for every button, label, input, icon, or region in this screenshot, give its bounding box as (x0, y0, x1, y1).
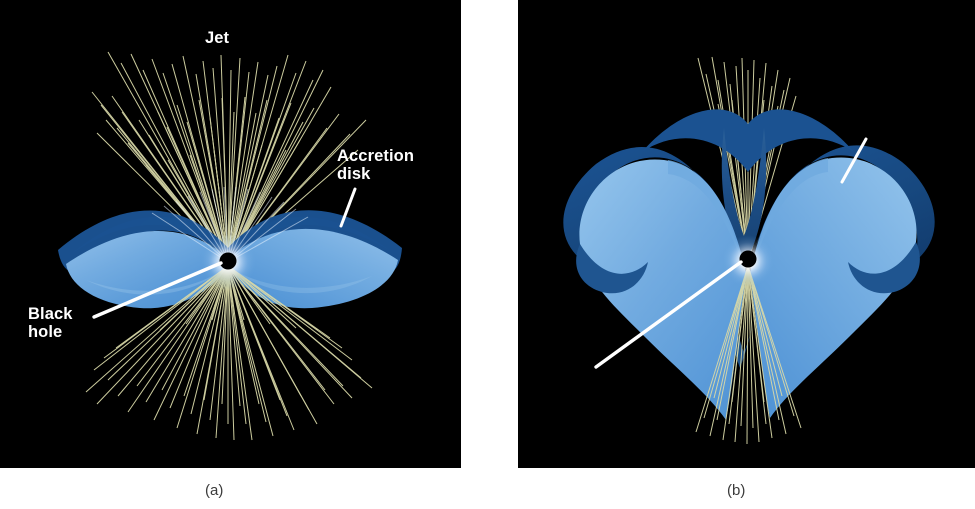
caption-b: (b) (727, 482, 745, 499)
label-accretion-disk-a: Accretion disk (337, 147, 414, 184)
panel-b: Jet Accretion disk Black hole (518, 0, 975, 468)
figure-container: Jet Accretion disk Black hole (0, 0, 975, 509)
panel-a: Jet Accretion disk Black hole (0, 0, 461, 468)
black-hole-disk (220, 253, 237, 270)
caption-a: (a) (205, 482, 223, 499)
panel-b-illustration (518, 0, 975, 468)
black-hole-disk (740, 251, 757, 268)
label-jet-a: Jet (205, 29, 229, 47)
label-black-hole-a: Black hole (28, 305, 73, 342)
panel-a-illustration (0, 0, 461, 468)
